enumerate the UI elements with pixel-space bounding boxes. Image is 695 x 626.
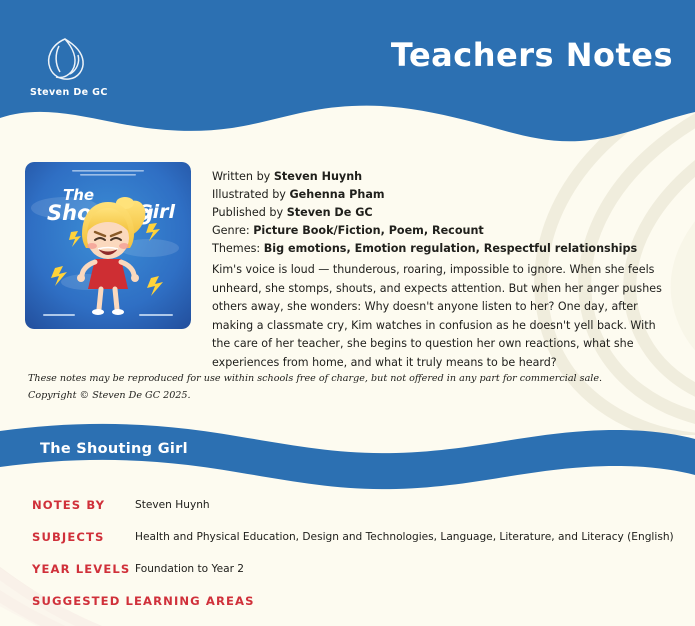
meta-published-by: Published by Steven De GC bbox=[212, 204, 670, 222]
meta-published-by-label: Published by bbox=[212, 206, 287, 219]
detail-label-notes-by: NOTES BY bbox=[32, 498, 105, 512]
details-table: NOTES BY Steven Huynh SUBJECTS Health an… bbox=[0, 498, 695, 626]
detail-label-subjects: SUBJECTS bbox=[32, 530, 104, 544]
detail-label-year-levels: YEAR LEVELS bbox=[32, 562, 130, 576]
meta-genre: Genre: Picture Book/Fiction, Poem, Recou… bbox=[212, 222, 670, 240]
book-cover-image: The Shouting Girl bbox=[25, 162, 191, 329]
page-title: Teachers Notes bbox=[391, 36, 673, 74]
meta-written-by-value: Steven Huynh bbox=[274, 170, 362, 183]
meta-themes-label: Themes: bbox=[212, 242, 264, 255]
meta-genre-value: Picture Book/Fiction, Poem, Recount bbox=[253, 224, 484, 237]
legal-notice: These notes may be reproduced for use wi… bbox=[28, 370, 628, 404]
teachers-notes-page: Steven De GC Teachers Notes bbox=[0, 0, 695, 626]
meta-published-by-value: Steven De GC bbox=[287, 206, 373, 219]
meta-illustrated-by-value: Gehenna Pham bbox=[289, 188, 384, 201]
meta-themes-value: Big emotions, Emotion regulation, Respec… bbox=[264, 242, 637, 255]
meta-illustrated-by-label: Illustrated by bbox=[212, 188, 289, 201]
detail-value-notes-by: Steven Huynh bbox=[135, 499, 210, 511]
table-row: SUBJECTS Health and Physical Education, … bbox=[0, 530, 695, 562]
detail-label-suggested-learning-areas: SUGGESTED LEARNING AREAS bbox=[32, 594, 255, 608]
meta-themes: Themes: Big emotions, Emotion regulation… bbox=[212, 240, 670, 258]
brand-logo: Steven De GC bbox=[30, 36, 100, 98]
table-row: YEAR LEVELS Foundation to Year 2 bbox=[0, 562, 695, 594]
book-metadata: Written by Steven Huynh Illustrated by G… bbox=[212, 168, 670, 258]
ribbon-title: The Shouting Girl bbox=[40, 441, 188, 457]
legal-line-reproduction: These notes may be reproduced for use wi… bbox=[28, 370, 628, 387]
meta-written-by: Written by Steven Huynh bbox=[212, 168, 670, 186]
header-wave-band bbox=[0, 0, 695, 160]
legal-line-copyright: Copyright © Steven De GC 2025. bbox=[28, 387, 628, 404]
book-synopsis: Kim's voice is loud — thunderous, roarin… bbox=[212, 261, 672, 373]
book-cover-artwork: The Shouting Girl bbox=[25, 162, 191, 329]
meta-genre-label: Genre: bbox=[212, 224, 253, 237]
meta-written-by-label: Written by bbox=[212, 170, 274, 183]
detail-value-subjects: Health and Physical Education, Design an… bbox=[135, 531, 674, 543]
leaf-swirl-logo-icon bbox=[43, 36, 87, 82]
meta-illustrated-by: Illustrated by Gehenna Pham bbox=[212, 186, 670, 204]
table-row: NOTES BY Steven Huynh bbox=[0, 498, 695, 530]
table-row: SUGGESTED LEARNING AREAS bbox=[0, 594, 695, 626]
detail-value-year-levels: Foundation to Year 2 bbox=[135, 563, 244, 575]
brand-logo-text: Steven De GC bbox=[30, 87, 100, 98]
